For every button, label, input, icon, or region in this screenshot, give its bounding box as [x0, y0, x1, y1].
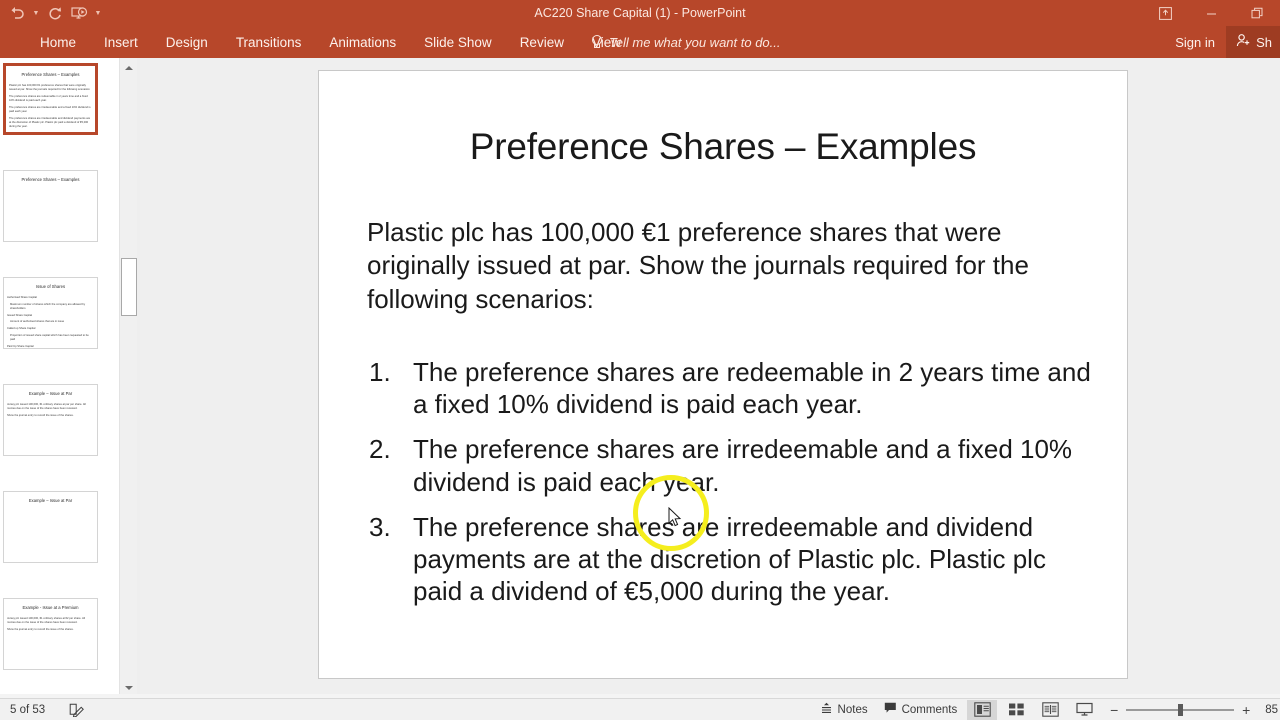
slide-sorter-icon[interactable]	[1001, 700, 1031, 720]
slide-counter[interactable]: 5 of 53	[4, 700, 51, 720]
quick-access-toolbar: ▼ ▼	[6, 0, 104, 26]
powerpoint-window: ▼ ▼ AC220 Share Capital (1) - PowerPoint	[0, 0, 1280, 720]
thumbnail-line: The preference shares are redeemable in …	[9, 95, 92, 103]
ribbon-display-options-icon[interactable]	[1142, 0, 1188, 26]
slide-thumbnail-6[interactable]: Example - Issue at a Premium Jersey plc …	[3, 598, 98, 670]
tell-me-search[interactable]: Tell me what you want to do...	[590, 26, 781, 58]
tell-me-label: Tell me what you want to do...	[609, 35, 781, 50]
undo-dropdown-icon[interactable]: ▼	[30, 2, 42, 24]
thumbnail-line: Paid Up Share Capital	[7, 345, 94, 349]
undo-icon[interactable]	[6, 2, 28, 24]
status-left-group: 5 of 53	[0, 700, 90, 720]
thumbnail-title: Example - Issue at a Premium	[4, 605, 97, 610]
notes-button[interactable]: Notes	[814, 700, 874, 720]
list-item: The preference shares are irredeemable a…	[367, 511, 1097, 608]
slide-thumbnail-5[interactable]: Example – Issue at Par	[3, 491, 98, 563]
slide-thumbnail-3[interactable]: Issue of Shares Authorised Share Capital…	[3, 277, 98, 349]
thumbnail-line: Called up Share Capital	[7, 327, 94, 331]
tab-design[interactable]: Design	[152, 26, 222, 58]
thumbnail-title: Example – Issue at Par	[4, 391, 97, 396]
thumbnail-title: Example – Issue at Par	[4, 498, 97, 503]
workspace: Preference Shares – Examples Plastic plc…	[0, 58, 1280, 698]
customize-qat-icon[interactable]: ▼	[92, 2, 104, 24]
zoom-in-button[interactable]: +	[1241, 702, 1251, 718]
scrollbar-thumb[interactable]	[121, 258, 137, 316]
thumbnail-line: The preference shares are irredeemable a…	[9, 106, 92, 114]
zoom-slider-handle[interactable]	[1178, 704, 1183, 716]
tab-animations[interactable]: Animations	[315, 26, 410, 58]
comment-icon	[884, 702, 897, 717]
list-item: The preference shares are irredeemable a…	[367, 433, 1097, 497]
normal-view-icon[interactable]	[967, 700, 997, 720]
thumbnail-body: Plastic plc has 100,000 €1 preference sh…	[9, 84, 92, 132]
comments-button[interactable]: Comments	[878, 700, 964, 720]
thumbnail-line: Proportion of issued share capital which…	[7, 334, 94, 342]
window-title: AC220 Share Capital (1) - PowerPoint	[0, 0, 1280, 26]
thumbnail-line: Issued Share Capital	[7, 314, 94, 318]
thumbnail-scrollbar[interactable]	[119, 58, 137, 698]
thumbnail-title: Preference Shares – Examples	[6, 72, 95, 77]
thumbnail-body: Jersey plc issued 100,000, €1 ordinary s…	[7, 617, 94, 635]
thumbnail-line: Amount of authorised shares that are in …	[7, 320, 94, 324]
restore-icon[interactable]	[1234, 0, 1280, 26]
tab-insert[interactable]: Insert	[90, 26, 152, 58]
start-slideshow-icon[interactable]	[68, 2, 90, 24]
reading-view-icon[interactable]	[1035, 700, 1065, 720]
ribbon-tabs: Home Insert Design Transitions Animation…	[26, 26, 635, 58]
thumbnail-title: Issue of Shares	[4, 284, 97, 289]
person-add-icon	[1236, 33, 1251, 51]
slide-title[interactable]: Preference Shares – Examples	[359, 126, 1087, 168]
slide-body[interactable]: Plastic plc has 100,000 €1 preference sh…	[367, 216, 1097, 620]
thumbnail-line: Authorised Share Capital	[7, 296, 94, 300]
slide-thumbnail-4[interactable]: Example – Issue at Par Jersey plc issued…	[3, 384, 98, 456]
slide-thumbnail-1[interactable]: Preference Shares – Examples Plastic plc…	[3, 63, 98, 135]
status-right-group: Notes Comments −	[814, 700, 1280, 720]
tab-review[interactable]: Review	[506, 26, 578, 58]
redo-icon[interactable]	[44, 2, 66, 24]
share-button[interactable]: Sh	[1226, 26, 1280, 58]
slide-intro-paragraph: Plastic plc has 100,000 €1 preference sh…	[367, 216, 1091, 316]
minimize-icon[interactable]	[1188, 0, 1234, 26]
current-slide[interactable]: Preference Shares – Examples Plastic plc…	[318, 70, 1128, 679]
sign-in-button[interactable]: Sign in	[1175, 26, 1215, 58]
tab-slide-show[interactable]: Slide Show	[410, 26, 506, 58]
thumbnail-line: Maximum number of shares which the compa…	[7, 303, 94, 311]
thumbnail-line: Plastic plc has 100,000 €1 preference sh…	[9, 84, 92, 92]
slide-thumbnail-2[interactable]: Preference Shares – Examples	[3, 170, 98, 242]
comments-label: Comments	[902, 704, 958, 716]
scroll-up-icon[interactable]	[121, 60, 137, 76]
ribbon-tab-strip: Home Insert Design Transitions Animation…	[0, 26, 1280, 58]
list-item: The preference shares are redeemable in …	[367, 356, 1097, 420]
tab-transitions[interactable]: Transitions	[222, 26, 316, 58]
thumbnail-line: Jersey plc issued 100,000, €1 ordinary s…	[7, 617, 94, 625]
window-controls	[1142, 0, 1280, 26]
tab-home[interactable]: Home	[26, 26, 90, 58]
thumbnail-line: Show the journal entry to record the iss…	[7, 414, 94, 418]
thumbnail-body: Jersey plc issued 100,000, €1 ordinary s…	[7, 403, 94, 421]
slide-thumbnail-pane: Preference Shares – Examples Plastic plc…	[0, 58, 117, 698]
slide-numbered-list: The preference shares are redeemable in …	[367, 356, 1097, 608]
spell-check-icon[interactable]	[63, 700, 90, 720]
notes-label: Notes	[838, 704, 868, 716]
status-bar: 5 of 53 Notes Comments	[0, 698, 1280, 720]
notes-icon	[820, 702, 833, 718]
zoom-out-button[interactable]: −	[1109, 702, 1119, 718]
lightbulb-icon	[590, 35, 602, 50]
zoom-percentage[interactable]: 85	[1261, 704, 1278, 716]
slide-canvas-area: Preference Shares – Examples Plastic plc…	[140, 58, 1280, 698]
title-bar: ▼ ▼ AC220 Share Capital (1) - PowerPoint	[0, 0, 1280, 26]
thumbnail-title: Preference Shares – Examples	[4, 177, 97, 182]
zoom-control[interactable]: − +	[1103, 702, 1257, 718]
slide-show-icon[interactable]	[1069, 700, 1099, 720]
thumbnail-line: Jersey plc issued 100,000, €1 ordinary s…	[7, 403, 94, 411]
thumbnail-body: Authorised Share Capital Maximum number …	[7, 296, 94, 349]
thumbnail-line: The preference shares are irredeemable a…	[9, 117, 92, 130]
thumbnail-line: Show the journal entry to record the iss…	[7, 628, 94, 632]
share-label: Sh	[1256, 35, 1272, 50]
zoom-slider[interactable]	[1126, 703, 1234, 717]
